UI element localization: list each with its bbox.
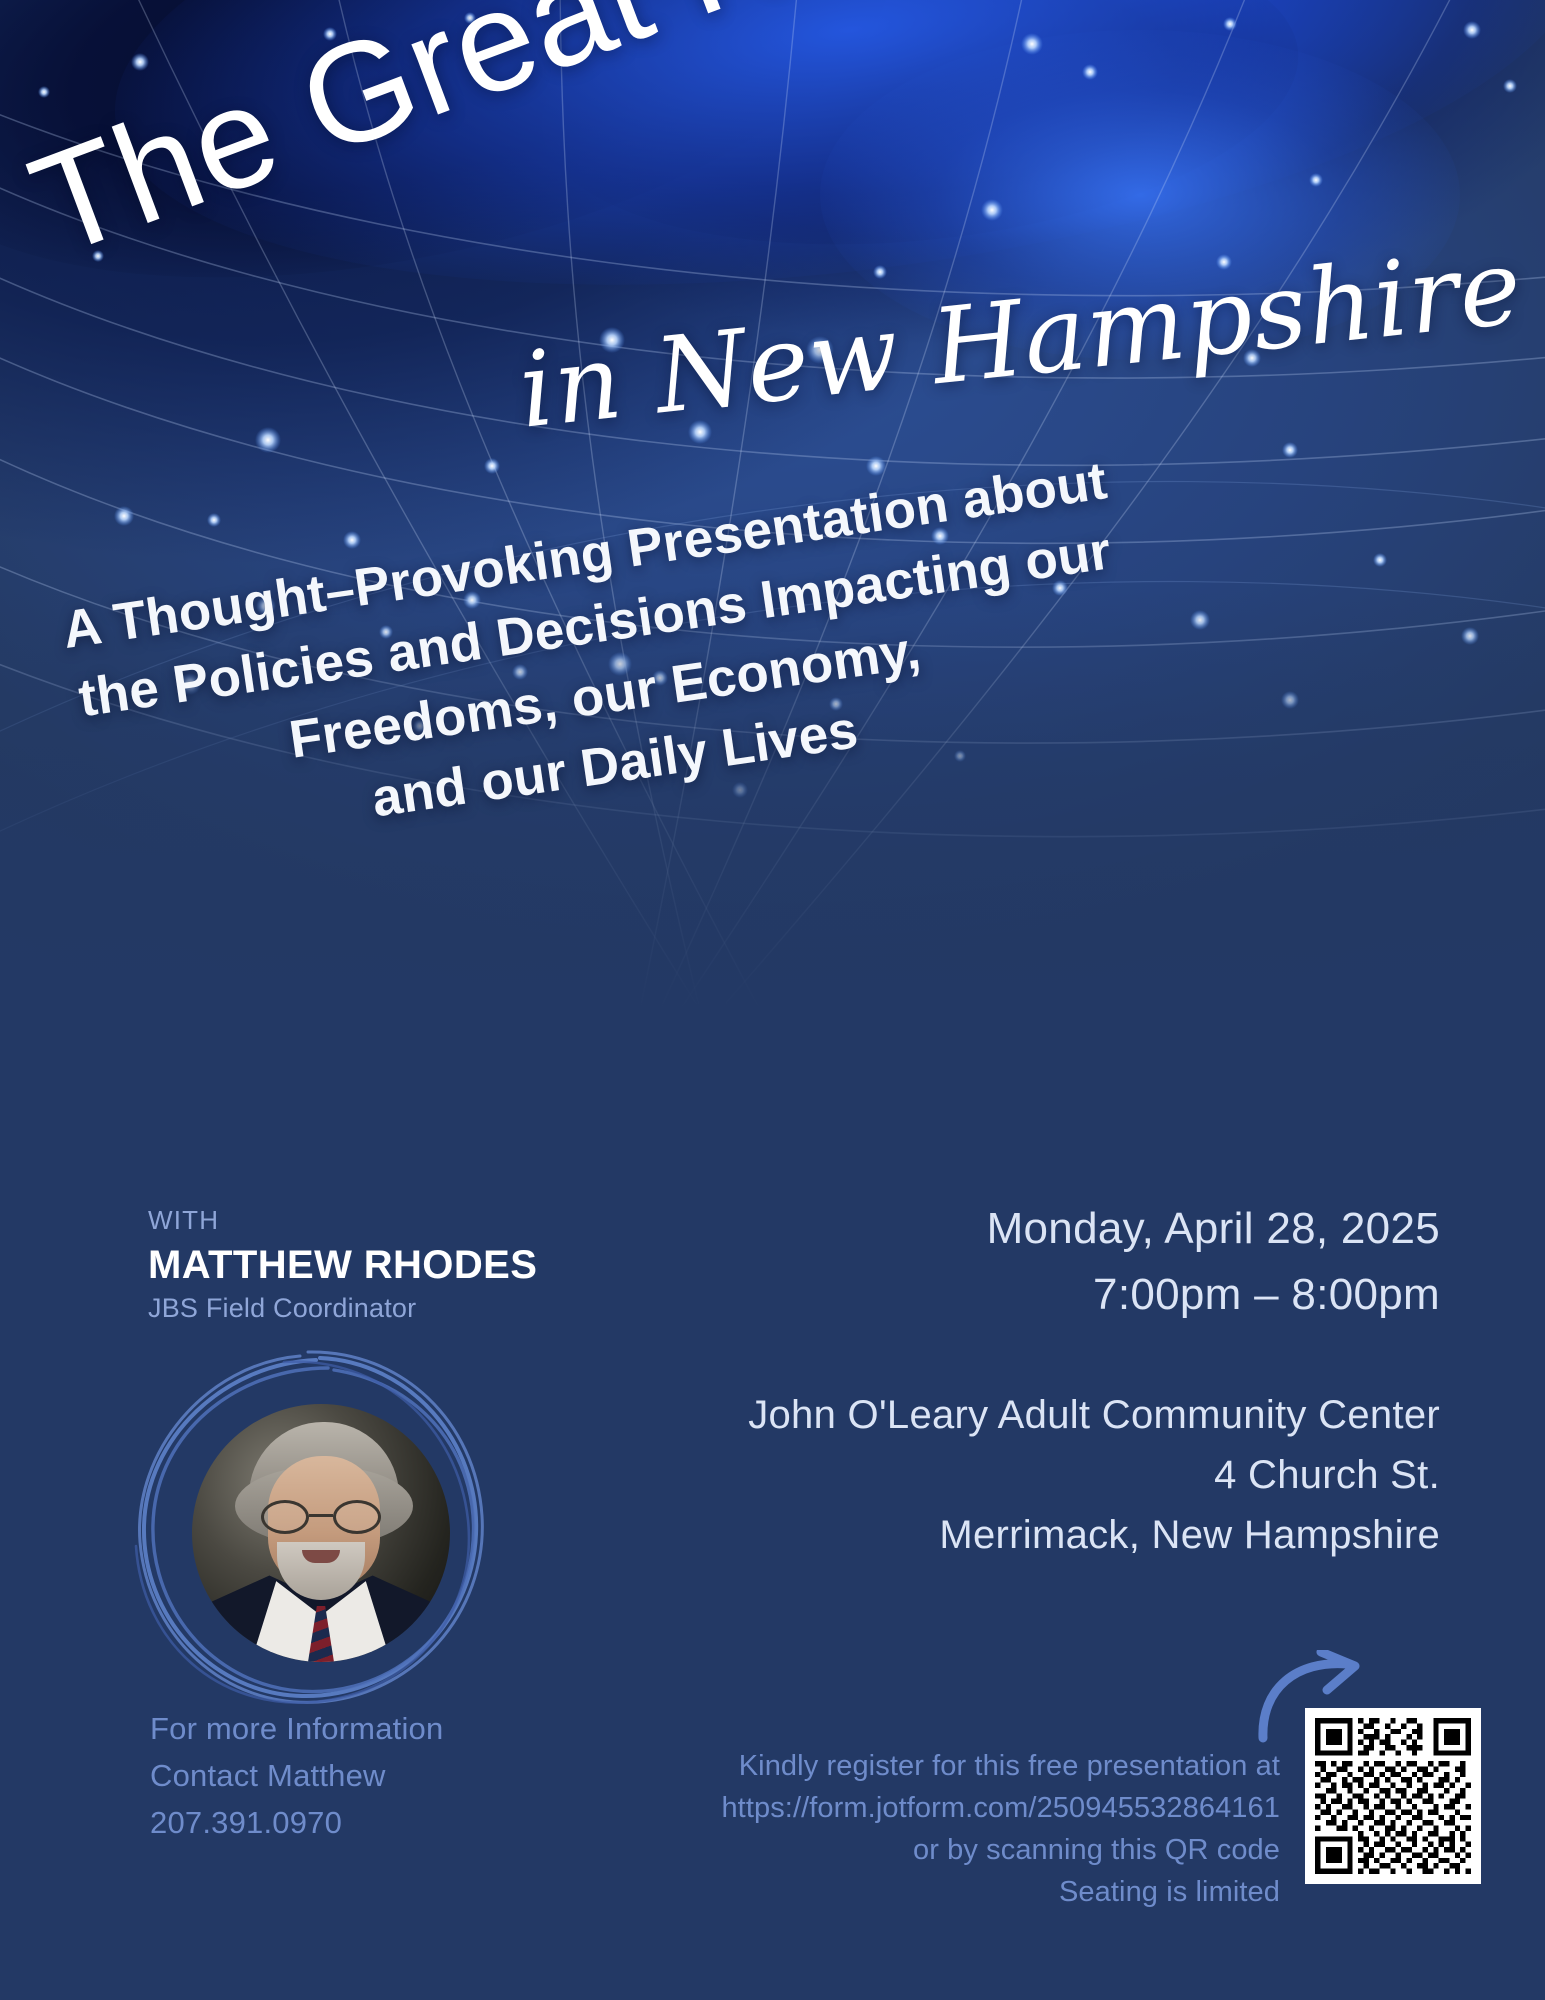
registration-line-4: Seating is limited (721, 1871, 1280, 1913)
event-flyer: The Great Reset in New Hampshire A Thoug… (0, 0, 1545, 2000)
event-time: 7:00pm – 8:00pm (987, 1262, 1440, 1328)
qr-code-icon[interactable] (1305, 1708, 1481, 1884)
contact-block: For more Information Contact Matthew 207… (150, 1705, 443, 1846)
speaker-with-label: WITH (148, 1203, 608, 1238)
contact-phone[interactable]: 207.391.0970 (150, 1799, 443, 1846)
registration-line-3: or by scanning this QR code (721, 1829, 1280, 1871)
event-date: Monday, April 28, 2025 (987, 1196, 1440, 1262)
event-location-block: John O'Leary Adult Community Center 4 Ch… (748, 1385, 1440, 1565)
venue-street: 4 Church St. (748, 1445, 1440, 1505)
portrait-glasses (259, 1500, 383, 1534)
registration-line-1: Kindly register for this free presentati… (721, 1745, 1280, 1787)
venue-name: John O'Leary Adult Community Center (748, 1385, 1440, 1445)
speaker-portrait-frame (120, 1350, 500, 1718)
speaker-role: JBS Field Coordinator (148, 1293, 608, 1324)
contact-line-2: Contact Matthew (150, 1752, 443, 1799)
speaker-name: MATTHEW RHODES (148, 1240, 608, 1290)
venue-city: Merrimack, New Hampshire (748, 1505, 1440, 1565)
portrait-lens-right (333, 1500, 381, 1534)
registration-url[interactable]: https://form.jotform.com/250945532864161 (721, 1787, 1280, 1829)
registration-block: Kindly register for this free presentati… (721, 1745, 1280, 1913)
event-datetime-block: Monday, April 28, 2025 7:00pm – 8:00pm (987, 1196, 1440, 1328)
portrait-lens-left (261, 1500, 309, 1534)
avatar (192, 1404, 450, 1662)
portrait-glasses-bridge (309, 1514, 333, 1517)
speaker-block: WITH MATTHEW RHODES JBS Field Coordinato… (148, 1203, 608, 1324)
contact-line-1: For more Information (150, 1705, 443, 1752)
